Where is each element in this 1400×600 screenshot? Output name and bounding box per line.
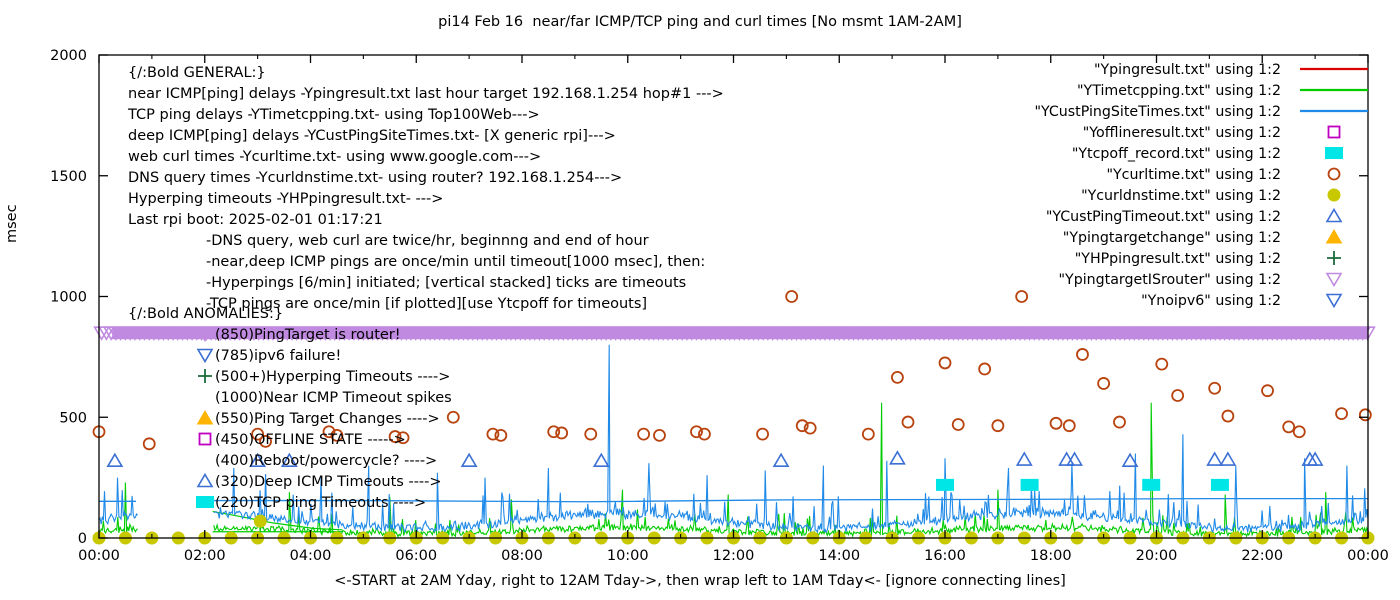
curl-time-point [902, 417, 913, 428]
x-tick-label: 04:00 [290, 548, 332, 564]
curl-time-point [786, 291, 797, 302]
legend-marker-icon [1327, 295, 1341, 307]
general-line: near ICMP[ping] delays -Ypingresult.txt … [128, 86, 724, 102]
x-tick-label: 14:00 [818, 548, 860, 564]
anomalies-heading: {/:Bold ANOMALIES:} [128, 306, 283, 322]
y-tick-label: 0 [78, 531, 87, 547]
curl-time-point [953, 419, 964, 430]
curl-time-point [940, 357, 951, 368]
y-tick-label: 2000 [50, 48, 87, 64]
x-tick-label: 00:00 [1347, 548, 1389, 564]
deep-icmp-timeout-point [1017, 453, 1031, 465]
legend-marker-icon [1327, 230, 1342, 243]
x-tick-label: 20:00 [1136, 548, 1178, 564]
anomaly-marker-icon [196, 496, 214, 508]
curl-time-point [892, 372, 903, 383]
legend-marker-icon [1328, 189, 1340, 201]
legend-label: "Ycurldnstime.txt" using 1:2 [1081, 188, 1281, 204]
curl-time-point [654, 430, 665, 441]
legend-marker-icon [1329, 127, 1340, 138]
curl-time-point [1172, 390, 1183, 401]
curl-time-point [1294, 426, 1305, 437]
legend-label: "Ynoipv6" using 1:2 [1141, 293, 1281, 309]
tcp-timeout-point [1211, 479, 1229, 491]
curl-time-point [1098, 378, 1109, 389]
curl-time-point [144, 438, 155, 449]
x-tick-label: 22:00 [1241, 548, 1283, 564]
y-tick-label: 500 [59, 410, 87, 426]
general-line: DNS query times -Ycurldnstime.txt- using… [128, 170, 622, 186]
x-tick-label: 16:00 [924, 548, 966, 564]
x-tick-label: 02:00 [184, 548, 226, 564]
deep-icmp-timeout-point [108, 454, 122, 466]
general-line: Hyperping timeouts -YHPpingresult.txt- -… [128, 191, 443, 207]
curl-time-point [1283, 421, 1294, 432]
legend-label: "YpingtargetISrouter" using 1:2 [1059, 272, 1281, 288]
x-tick-label: 00:00 [78, 548, 120, 564]
legend-label: "YHPpingresult.txt" using 1:2 [1075, 251, 1281, 267]
dns-time-outlier [254, 515, 266, 527]
anomaly-label: (450)OFFLINE STATE -----> [215, 432, 406, 448]
general-line: TCP ping delays -YTimetcpping.txt- using… [127, 107, 540, 123]
curl-time-point [585, 429, 596, 440]
legend-label: "YTimetcpping.txt" using 1:2 [1077, 83, 1281, 99]
curl-time-point [448, 412, 459, 423]
anomaly-label: (400)Reboot/powercycle? ----> [215, 453, 437, 469]
deep-icmp-timeout-point [774, 454, 788, 466]
deep-icmp-timeout-point [1221, 453, 1235, 465]
general-indented-line: -Hyperpings [6/min] initiated; [vertical… [206, 275, 686, 291]
deep-icmp-timeout-point [1208, 453, 1222, 465]
tcp-timeout-point [936, 479, 954, 491]
curl-time-point [1222, 411, 1233, 422]
curl-time-point [1114, 417, 1125, 428]
anomaly-label: (500+)Hyperping Timeouts ----> [215, 369, 450, 385]
anomaly-label: (220)TCP ping Timeouts ----> [215, 495, 426, 511]
legend-label: "Yofflineresult.txt" using 1:2 [1083, 125, 1281, 141]
curl-time-point [1209, 383, 1220, 394]
general-line: Last rpi boot: 2025-02-01 01:17:21 [128, 212, 383, 228]
deep-icmp-timeout-point [594, 454, 608, 466]
anomaly-marker-icon [198, 350, 212, 362]
anomaly-marker-icon [198, 475, 212, 487]
anomaly-label: (850)PingTarget is router! [215, 327, 401, 343]
x-tick-label: 08:00 [501, 548, 543, 564]
curl-time-point [992, 420, 1003, 431]
y-tick-label: 1500 [50, 169, 87, 185]
legend-label: "Ypingresult.txt" using 1:2 [1094, 62, 1281, 78]
anomaly-label: (550)Ping Target Changes ----> [215, 411, 440, 427]
annotations: {/:Bold GENERAL:}near ICMP[ping] delays … [127, 65, 724, 312]
curl-time-point [1360, 409, 1371, 420]
curl-time-point [638, 429, 649, 440]
chart-page: pi14 Feb 16 near/far ICMP/TCP ping and c… [0, 0, 1400, 600]
legend-label: "Ytcpoff_record.txt" using 1:2 [1072, 146, 1281, 162]
legend: "Ypingresult.txt" using 1:2"YTimetcpping… [1034, 62, 1368, 309]
legend-label: "YCustPingTimeout.txt" using 1:2 [1046, 209, 1281, 225]
anomaly-marker-icon [198, 411, 213, 424]
general-line: web curl times -Ycurltime.txt- using www… [128, 149, 541, 165]
curl-time-point [1016, 291, 1027, 302]
tcp-timeout-point [1142, 479, 1160, 491]
general-indented-line: -near,deep ICMP pings are once/min until… [206, 254, 705, 270]
anomaly-label: (785)ipv6 failure! [215, 348, 341, 364]
curl-time-point [1051, 418, 1062, 429]
legend-label: "YCustPingSiteTimes.txt" using 1:2 [1034, 104, 1281, 120]
legend-label: "Ypingtargetchange" using 1:2 [1063, 230, 1281, 246]
curl-time-point [495, 430, 506, 441]
deep-icmp-timeout-point [462, 454, 476, 466]
x-tick-label: 06:00 [395, 548, 437, 564]
legend-marker-icon [1329, 169, 1340, 180]
anomaly-label: (320)Deep ICMP Timeouts ----> [215, 474, 442, 490]
plot-area: 050010001500200000:0002:0004:0006:0008:0… [0, 0, 1400, 600]
curl-time-point [863, 429, 874, 440]
curl-time-point [1156, 359, 1167, 370]
curl-time-point [1077, 349, 1088, 360]
x-tick-label: 10:00 [607, 548, 649, 564]
deep-icmp-timeout-point [890, 452, 904, 464]
x-tick-label: 18:00 [1030, 548, 1072, 564]
anomaly-label: (1000)Near ICMP Timeout spikes [215, 390, 452, 406]
tcp-timeout-point [1021, 479, 1039, 491]
x-tick-label: 12:00 [713, 548, 755, 564]
curl-time-point [1336, 408, 1347, 419]
legend-marker-icon [1327, 274, 1341, 286]
anomaly-marker-icon [198, 369, 212, 383]
curl-time-point [1064, 420, 1075, 431]
legend-marker-icon [1327, 251, 1341, 265]
y-tick-label: 1000 [50, 290, 87, 306]
curl-time-point [556, 427, 567, 438]
anomaly-marker-icon [200, 434, 211, 445]
curl-time-point [757, 429, 768, 440]
legend-marker-icon [1325, 147, 1343, 159]
legend-label: "Ycurltime.txt" using 1:2 [1106, 167, 1281, 183]
curl-time-point [1262, 385, 1273, 396]
legend-marker-icon [1327, 210, 1341, 222]
general-heading: {/:Bold GENERAL:} [128, 65, 266, 81]
general-indented-line: -DNS query, web curl are twice/hr, begin… [206, 233, 649, 249]
curl-time-point [979, 363, 990, 374]
general-line: deep ICMP[ping] delays -YCustPingSiteTim… [128, 128, 616, 144]
